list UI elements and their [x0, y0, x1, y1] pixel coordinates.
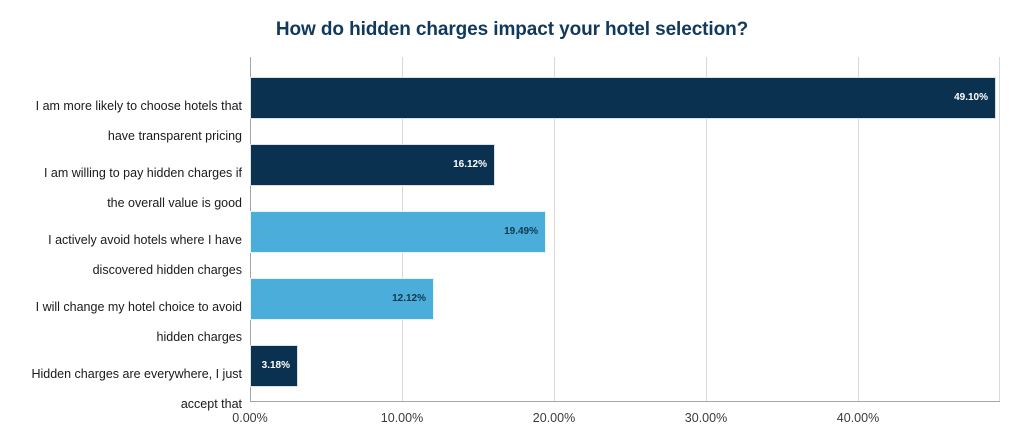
bar-accept-that[interactable]: 3.18% — [250, 345, 298, 387]
bar-transparent-pricing[interactable]: 49.10% — [250, 77, 996, 119]
category-label-transparent-pricing: I am more likely to choose hotels that h… — [10, 84, 242, 159]
category-label-line1: I actively avoid hotels where I have — [10, 233, 242, 248]
bar-value-label: 49.10% — [954, 93, 995, 103]
bar-actively-avoid[interactable]: 19.49% — [250, 211, 546, 253]
category-label-line2: accept that — [10, 397, 242, 412]
category-label-line1: I will change my hotel choice to avoid — [10, 300, 242, 315]
x-tick-40: 40.00% — [803, 411, 913, 425]
bar-value-label: 19.49% — [504, 227, 545, 237]
x-tick-20: 20.00% — [499, 411, 609, 425]
plot-area: 49.10% 16.12% 19.49% 12.12% 3.18% — [250, 57, 1000, 401]
bar-value-label: 16.12% — [453, 160, 494, 170]
bar-value-label: 12.12% — [392, 294, 433, 304]
x-tick-30: 30.00% — [651, 411, 761, 425]
category-label-line2: have transparent pricing — [10, 129, 242, 144]
category-label-line2: hidden charges — [10, 330, 242, 345]
x-tick-10: 10.00% — [347, 411, 457, 425]
x-tick-0: 0.00% — [195, 411, 305, 425]
bar-change-choice[interactable]: 12.12% — [250, 278, 434, 320]
category-label-line1: Hidden charges are everywhere, I just — [10, 367, 242, 382]
x-axis-line — [250, 401, 1000, 402]
category-label-actively-avoid: I actively avoid hotels where I have dis… — [10, 218, 242, 293]
chart-title: How do hidden charges impact your hotel … — [0, 19, 1024, 41]
category-label-change-choice: I will change my hotel choice to avoid h… — [10, 285, 242, 360]
category-label-line2: discovered hidden charges — [10, 263, 242, 278]
bar-value-label: 3.18% — [262, 361, 297, 371]
category-label-willing-to-pay: I am willing to pay hidden charges if th… — [10, 151, 242, 226]
category-label-line1: I am willing to pay hidden charges if — [10, 166, 242, 181]
category-label-line2: the overall value is good — [10, 196, 242, 211]
bar-willing-to-pay[interactable]: 16.12% — [250, 144, 495, 186]
gridline-50 — [999, 57, 1000, 401]
bar-chart: How do hidden charges impact your hotel … — [0, 0, 1024, 447]
category-label-line1: I am more likely to choose hotels that — [10, 99, 242, 114]
